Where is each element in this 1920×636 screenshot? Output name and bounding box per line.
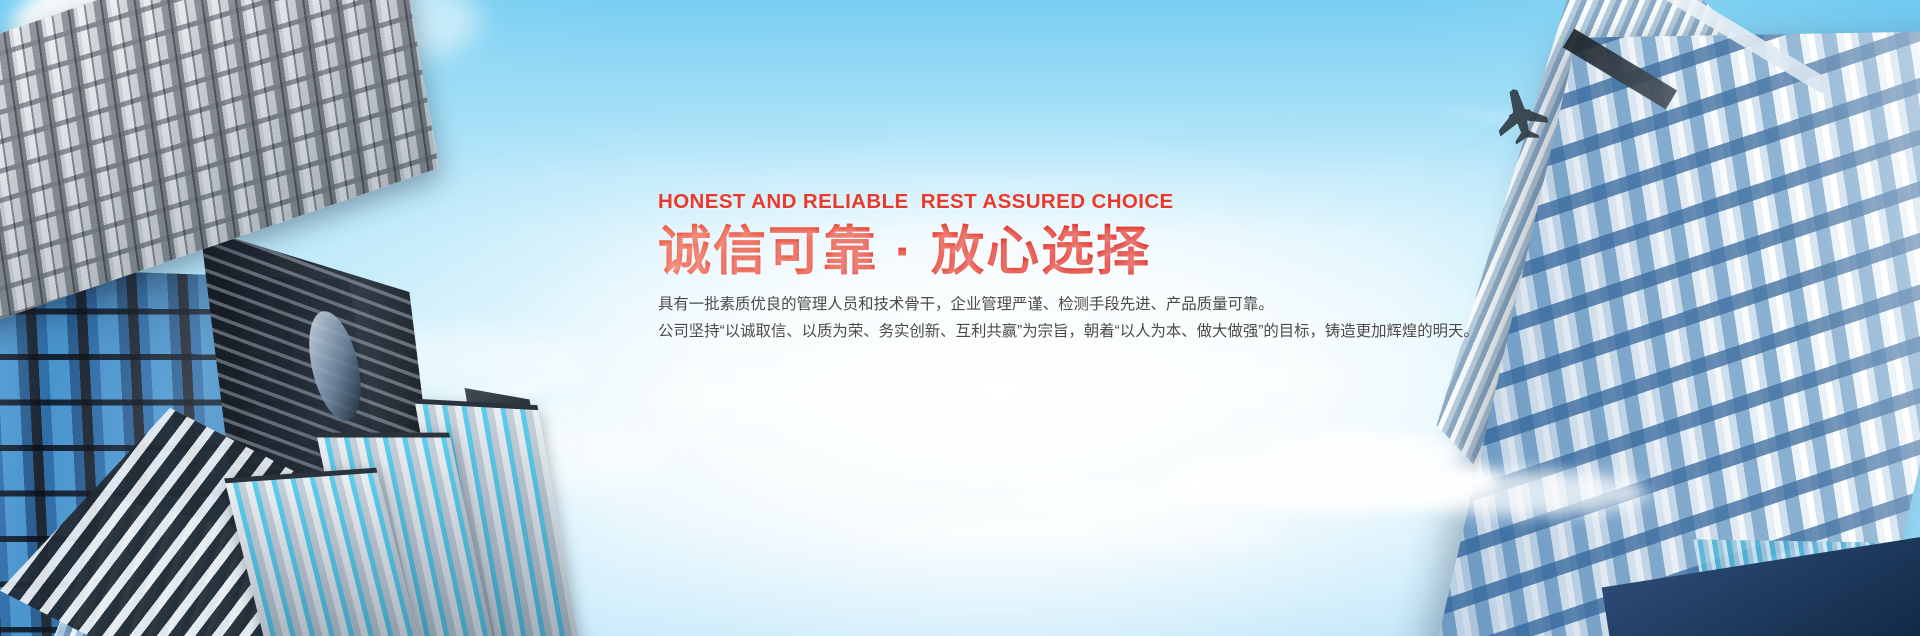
banner-headline: 诚信可靠 · 放心选择	[658, 221, 1418, 282]
right-building	[1500, 20, 1920, 636]
secondary-building	[250, 400, 560, 636]
cloud-icon	[1010, 488, 1240, 514]
banner-eyebrow: HONEST AND RELIABLE REST ASSURED CHOICE	[658, 190, 1418, 215]
cloud-icon	[860, 515, 1280, 549]
banner-body-line-2: 公司坚持“以诚取信、以质为荣、务实创新、互利共赢”为宗旨，朝着“以人为本、做大做…	[658, 319, 1418, 345]
hero-banner: HONEST AND RELIABLE REST ASSURED CHOICE …	[0, 0, 1920, 636]
banner-text-block: HONEST AND RELIABLE REST ASSURED CHOICE …	[658, 190, 1418, 345]
banner-body-line-1: 具有一批素质优良的管理人员和技术骨干，企业管理严谨、检测手段先进、产品质量可靠。	[658, 292, 1418, 318]
